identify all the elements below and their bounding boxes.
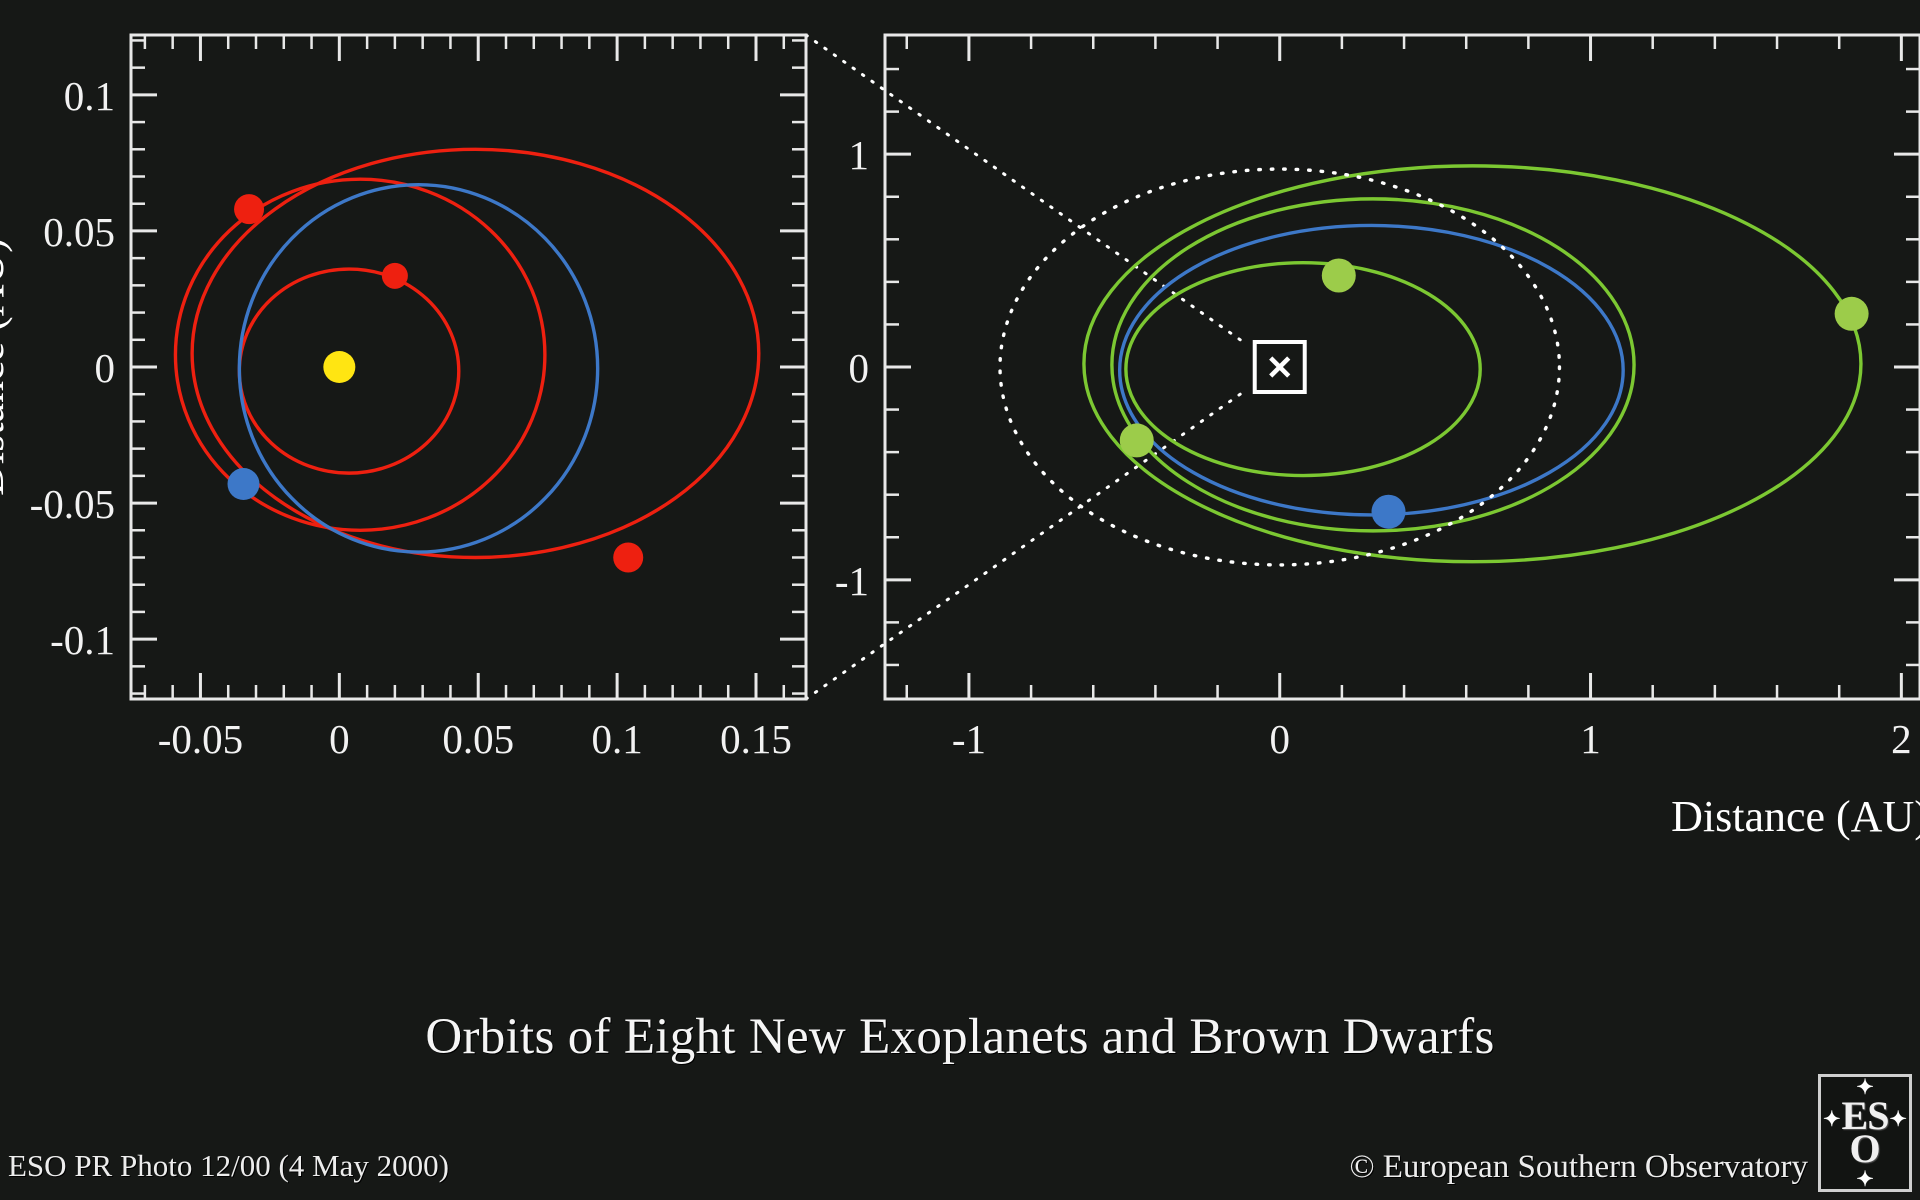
credit-left: ESO PR Photo 12/00 (4 May 2000): [8, 1148, 449, 1184]
outer-orbits-panel-frame: [885, 35, 1920, 699]
figure-canvas: -0.0500.050.10.15-0.1-0.0500.050.1Distan…: [0, 0, 1920, 1200]
inner-orbits-panel-frame: [131, 35, 806, 699]
outer-orbits-panel-xticklabel: 0: [1269, 716, 1290, 762]
inner-orbits-panel-yticklabel: -0.1: [50, 617, 115, 663]
inner-orbits-panel-ylabel: Distance (AU): [0, 238, 13, 496]
eso-logo-line2: O: [1849, 1133, 1880, 1166]
red-orbit-outer: [192, 149, 759, 557]
outer-orbits-panel-yticklabel: -1: [835, 558, 869, 604]
inner-orbits-panel-xticklabel: -0.05: [158, 716, 243, 762]
inner-orbits-panel-yticklabel: -0.05: [30, 481, 115, 527]
zoom-connector-lower: [806, 393, 1242, 699]
outer-orbits-panel-orbits: [1000, 166, 1869, 565]
sparkle-icon-left: ✦: [1823, 1111, 1841, 1128]
outer-orbits-panel-yticklabel: 0: [849, 345, 870, 391]
inner-orbits-panel-yticklabel: 0.1: [64, 73, 115, 119]
green-orbit-middle-planet: [1120, 423, 1154, 457]
outer-orbits-panel-xticklabel: 2: [1891, 716, 1912, 762]
right-panel-group: [885, 35, 1920, 699]
inner-orbits-panel-xticklabel: 0.05: [442, 716, 514, 762]
figure-title: Orbits of Eight New Exoplanets and Brown…: [0, 1008, 1920, 1066]
sparkle-icon-right: ✦: [1889, 1111, 1907, 1128]
inner-orbits-panel-xticklabel: 0: [329, 716, 350, 762]
credit-right: © European Southern Observatory: [1349, 1149, 1808, 1186]
blue-orbit-planet: [228, 468, 260, 500]
outer-orbits-panel-xticklabel: 1: [1580, 716, 1601, 762]
left-panel-group: [131, 35, 806, 699]
inner-orbits-panel-xticklabel: 0.1: [591, 716, 642, 762]
blue-orbit-outer: [1120, 225, 1624, 514]
eso-logo: ✦ ✦ ✦ ✦ ES O: [1818, 1074, 1912, 1192]
green-orbit-inner-planet: [1322, 258, 1356, 292]
outer-orbits-panel-yticklabel: 1: [849, 132, 870, 178]
inner-orbits-panel-orbits: [175, 149, 758, 572]
green-orbit-outer-planet: [1835, 297, 1869, 331]
outer-orbits-panel-xticklabel: -1: [952, 716, 986, 762]
host-star: [323, 351, 355, 383]
red-orbit-middle-planet: [234, 194, 264, 224]
red-orbit-inner-planet: [382, 263, 408, 289]
blue-orbit-outer-planet: [1372, 495, 1406, 529]
inner-orbits-panel-yticklabel: 0.05: [43, 209, 115, 255]
sparkle-icon-bottom: ✦: [1856, 1171, 1874, 1188]
sparkle-icon-top: ✦: [1856, 1079, 1874, 1096]
red-orbit-outer-planet: [613, 542, 643, 572]
outer-orbits-panel-xlabel: Distance (AU): [1671, 792, 1920, 841]
inner-orbits-panel-yticklabel: 0: [95, 345, 116, 391]
zoom-connectors: [806, 35, 1242, 699]
green-orbit-middle: [1112, 199, 1634, 531]
inner-orbits-panel-xticklabel: 0.15: [720, 716, 792, 762]
orbit-plot-svg: -0.0500.050.10.15-0.1-0.0500.050.1Distan…: [0, 0, 1920, 1010]
